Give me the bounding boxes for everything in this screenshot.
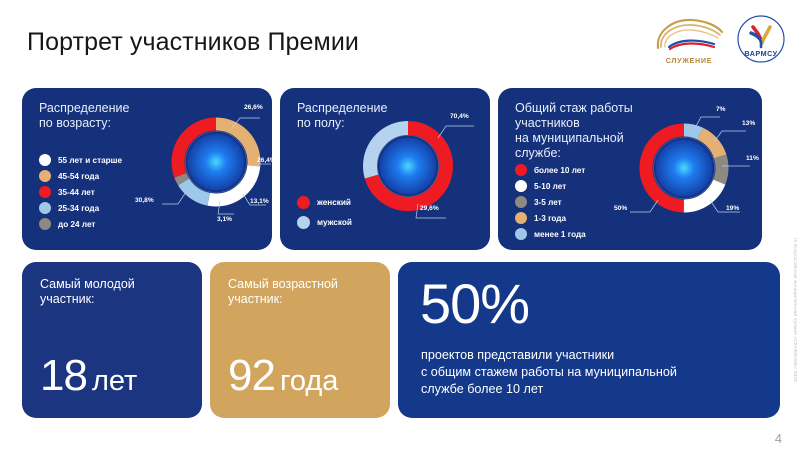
legend-label: более 10 лет	[534, 166, 585, 175]
legend-label: женский	[317, 198, 351, 207]
legend-item: 5-10 лет	[515, 180, 586, 192]
donut-age-wrap: 26,6% 26,4% 13,1% 3,1% 30,8%	[160, 102, 272, 239]
card-tenure-highlight: 50% проектов представили участники с общ…	[398, 262, 780, 418]
page-header: Портрет участников Премии СЛУЖЕНИЕ ВАРМС…	[0, 0, 800, 86]
legend-swatch-icon	[39, 170, 51, 182]
chart-panels: Распределение по возрасту: 55 лет и стар…	[22, 88, 762, 250]
legend-swatch-icon	[515, 164, 527, 176]
pct-label: 29,6%	[420, 205, 439, 212]
legend-item: 1-3 года	[515, 212, 586, 224]
panel-age-title: Распределение по возрасту:	[39, 101, 129, 131]
sluzhenie-logo: СЛУЖЕНИЕ	[652, 14, 726, 66]
pct-label: 19%	[726, 205, 739, 212]
sluzhenie-swoosh-icon	[652, 14, 726, 56]
pct-label: 50%	[614, 205, 627, 212]
legend-label: мужской	[317, 218, 352, 227]
varmsu-wordmark: ВАРМСУ	[744, 49, 777, 58]
donut-tenure-wrap: 7% 13% 11% 19% 50%	[628, 106, 762, 241]
card-oldest-number: 92	[228, 351, 275, 400]
card-youngest-number: 18	[40, 351, 87, 400]
pct-label: 7%	[716, 106, 726, 113]
legend-swatch-icon	[297, 216, 310, 229]
page-title: Портрет участников Премии	[27, 28, 359, 57]
card-youngest-unit: лет	[92, 365, 137, 397]
legend-label: 35-44 лет	[58, 188, 95, 197]
legend-item: менее 1 года	[515, 228, 586, 240]
legend-swatch-icon	[39, 154, 51, 166]
panel-age-distribution: Распределение по возрасту: 55 лет и стар…	[22, 88, 272, 250]
card-oldest-value: 92года	[228, 351, 338, 401]
legend-label: 55 лет и старше	[58, 156, 122, 165]
donut-chart-age	[160, 102, 272, 234]
legend-item: более 10 лет	[515, 164, 586, 176]
legend-label: 3-5 лет	[534, 198, 562, 207]
legend-swatch-icon	[515, 212, 527, 224]
legend-item: 55 лет и старше	[39, 154, 122, 166]
pct-label: 13%	[742, 120, 755, 127]
legend-label: 1-3 года	[534, 214, 566, 223]
pct-label: 3,1%	[217, 216, 232, 223]
panel-gender-distribution: Распределение по полу: женский мужской	[280, 88, 490, 250]
legend-item: до 24 лет	[39, 218, 122, 230]
logo-group: СЛУЖЕНИЕ ВАРМСУ	[652, 14, 786, 66]
legend-age: 55 лет и старше 45-54 года 35-44 лет 25-…	[39, 154, 122, 234]
pct-label: 13,1%	[250, 198, 269, 205]
card-oldest-unit: года	[280, 365, 338, 397]
donut-gender-wrap: 70,4% 29,6%	[350, 106, 482, 241]
legend-item: женский	[297, 196, 352, 209]
legend-item: 45-54 года	[39, 170, 122, 182]
legend-tenure: более 10 лет 5-10 лет 3-5 лет 1-3 года м…	[515, 164, 586, 244]
legend-swatch-icon	[39, 218, 51, 230]
donut-center-glow	[188, 134, 245, 191]
legend-item: 3-5 лет	[515, 196, 586, 208]
summary-cards: Самый молодой участник: 18лет Самый возр…	[22, 262, 780, 418]
donut-chart-gender	[350, 106, 482, 236]
pct-label: 70,4%	[450, 113, 469, 120]
legend-item: 35-44 лет	[39, 186, 122, 198]
panel-tenure-distribution: Общий стаж работы участников на муниципа…	[498, 88, 762, 250]
legend-label: 5-10 лет	[534, 182, 566, 191]
pct-label: 26,6%	[244, 104, 263, 111]
pct-label: 11%	[746, 155, 759, 162]
donut-center-glow	[380, 138, 437, 195]
legend-swatch-icon	[39, 202, 51, 214]
pct-label: 30,8%	[135, 197, 154, 204]
card-youngest-value: 18лет	[40, 351, 137, 401]
legend-swatch-icon	[515, 196, 527, 208]
legend-swatch-icon	[515, 180, 527, 192]
page-number: 4	[775, 431, 782, 446]
pct-label: 26,4%	[257, 157, 272, 164]
card-youngest-participant: Самый молодой участник: 18лет	[22, 262, 202, 418]
legend-label: 25-34 года	[58, 204, 99, 213]
card-oldest-participant: Самый возрастной участник: 92года	[210, 262, 390, 418]
legend-label: менее 1 года	[534, 230, 586, 239]
donut-center-glow	[656, 140, 713, 197]
legend-item: 25-34 года	[39, 202, 122, 214]
sluzhenie-wordmark: СЛУЖЕНИЕ	[666, 56, 713, 65]
legend-label: до 24 лет	[58, 220, 95, 229]
legend-swatch-icon	[515, 228, 527, 240]
legend-swatch-icon	[39, 186, 51, 198]
legend-item: мужской	[297, 216, 352, 229]
panel-tenure-title: Общий стаж работы участников на муниципа…	[515, 101, 633, 161]
legend-gender: женский мужской	[297, 196, 352, 236]
stat-percentage: 50%	[420, 273, 529, 335]
card-oldest-label: Самый возрастной участник:	[228, 277, 338, 307]
card-youngest-label: Самый молодой участник:	[40, 277, 135, 307]
stat-description: проектов представили участники с общим с…	[421, 347, 677, 398]
side-credit: III Всероссийская муниципальная премия «…	[793, 238, 798, 382]
legend-label: 45-54 года	[58, 172, 99, 181]
varmsu-logo: ВАРМСУ	[736, 14, 786, 66]
legend-swatch-icon	[297, 196, 310, 209]
